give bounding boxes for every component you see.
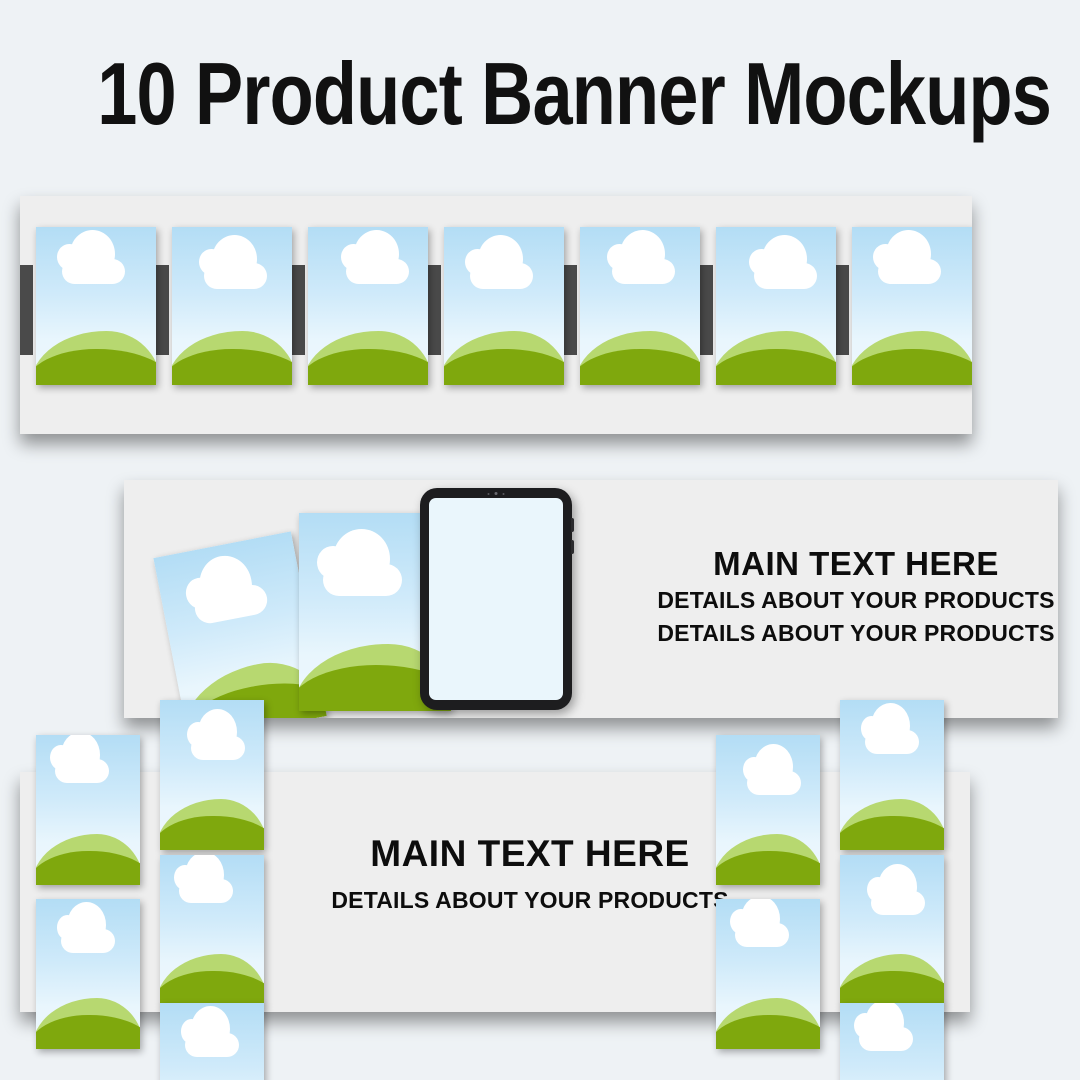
- cloud-icon: [735, 923, 789, 947]
- cloud-icon: [859, 1027, 913, 1051]
- product-card[interactable]: [852, 227, 972, 385]
- banner2-text-block: MAIN TEXT HERE DETAILS ABOUT YOUR PRODUC…: [654, 545, 1058, 649]
- banner-tablet-and-cards[interactable]: MAIN TEXT HERE DETAILS ABOUT YOUR PRODUC…: [124, 480, 1058, 718]
- banner3-detail-line-1: DETAILS ABOUT YOUR PRODUCTS: [320, 883, 740, 918]
- product-card[interactable]: [840, 700, 944, 850]
- cloud-icon: [62, 259, 124, 284]
- cloud-icon: [346, 259, 408, 284]
- product-card[interactable]: [716, 899, 820, 1049]
- camera-dot: [488, 493, 490, 495]
- product-card[interactable]: [36, 735, 140, 885]
- tablet-screen[interactable]: [429, 498, 563, 700]
- cloud-icon: [55, 759, 109, 783]
- cloud-icon: [747, 771, 801, 795]
- divider-bar: [836, 265, 849, 355]
- camera-lens-dot: [495, 492, 498, 495]
- product-card[interactable]: [580, 227, 700, 385]
- banner2-detail-line-2: DETAILS ABOUT YOUR PRODUCTS: [654, 617, 1058, 650]
- volume-button[interactable]: [571, 518, 574, 532]
- product-card[interactable]: [160, 700, 264, 850]
- product-card[interactable]: [716, 735, 820, 885]
- product-card[interactable]: [36, 899, 140, 1049]
- cloud-icon: [754, 263, 816, 288]
- cloud-icon: [470, 263, 532, 288]
- divider-bar: [700, 265, 713, 355]
- banner3-main-text: MAIN TEXT HERE: [320, 832, 740, 876]
- cloud-icon: [185, 1033, 239, 1057]
- camera-dots-icon: [488, 492, 505, 495]
- product-card[interactable]: [172, 227, 292, 385]
- divider-bar: [156, 265, 169, 355]
- product-card[interactable]: [308, 227, 428, 385]
- cloud-icon: [865, 730, 919, 754]
- cloud-icon: [61, 929, 115, 953]
- banner-strip-seven-cards[interactable]: [20, 196, 972, 434]
- cloud-icon: [878, 259, 940, 284]
- product-card[interactable]: [36, 227, 156, 385]
- camera-dot: [503, 493, 505, 495]
- divider-bar: [564, 265, 577, 355]
- product-card[interactable]: [840, 855, 944, 1005]
- divider-bar: [20, 265, 33, 355]
- cloud-icon: [179, 879, 233, 903]
- product-card[interactable]: [160, 1003, 264, 1080]
- page-title: 10 Product Banner Mockups: [97, 50, 983, 138]
- cloud-icon: [871, 891, 925, 915]
- cloud-icon: [612, 259, 674, 284]
- banner2-main-text: MAIN TEXT HERE: [654, 545, 1058, 584]
- product-card[interactable]: [716, 227, 836, 385]
- product-card[interactable]: [840, 1003, 944, 1080]
- banner2-detail-line-1: DETAILS ABOUT YOUR PRODUCTS: [654, 584, 1058, 617]
- cloud-icon: [191, 736, 245, 760]
- cloud-icon: [204, 263, 266, 288]
- cloud-icon: [323, 564, 402, 596]
- power-button[interactable]: [571, 540, 574, 554]
- banner3-text-block: MAIN TEXT HERE DETAILS ABOUT YOUR PRODUC…: [320, 832, 740, 918]
- product-card[interactable]: [160, 855, 264, 1005]
- divider-bar: [292, 265, 305, 355]
- tablet-device-mockup[interactable]: [420, 488, 572, 710]
- product-card[interactable]: [444, 227, 564, 385]
- divider-bar: [428, 265, 441, 355]
- mockup-showcase-page: 10 Product Banner Mockups: [0, 0, 1080, 1080]
